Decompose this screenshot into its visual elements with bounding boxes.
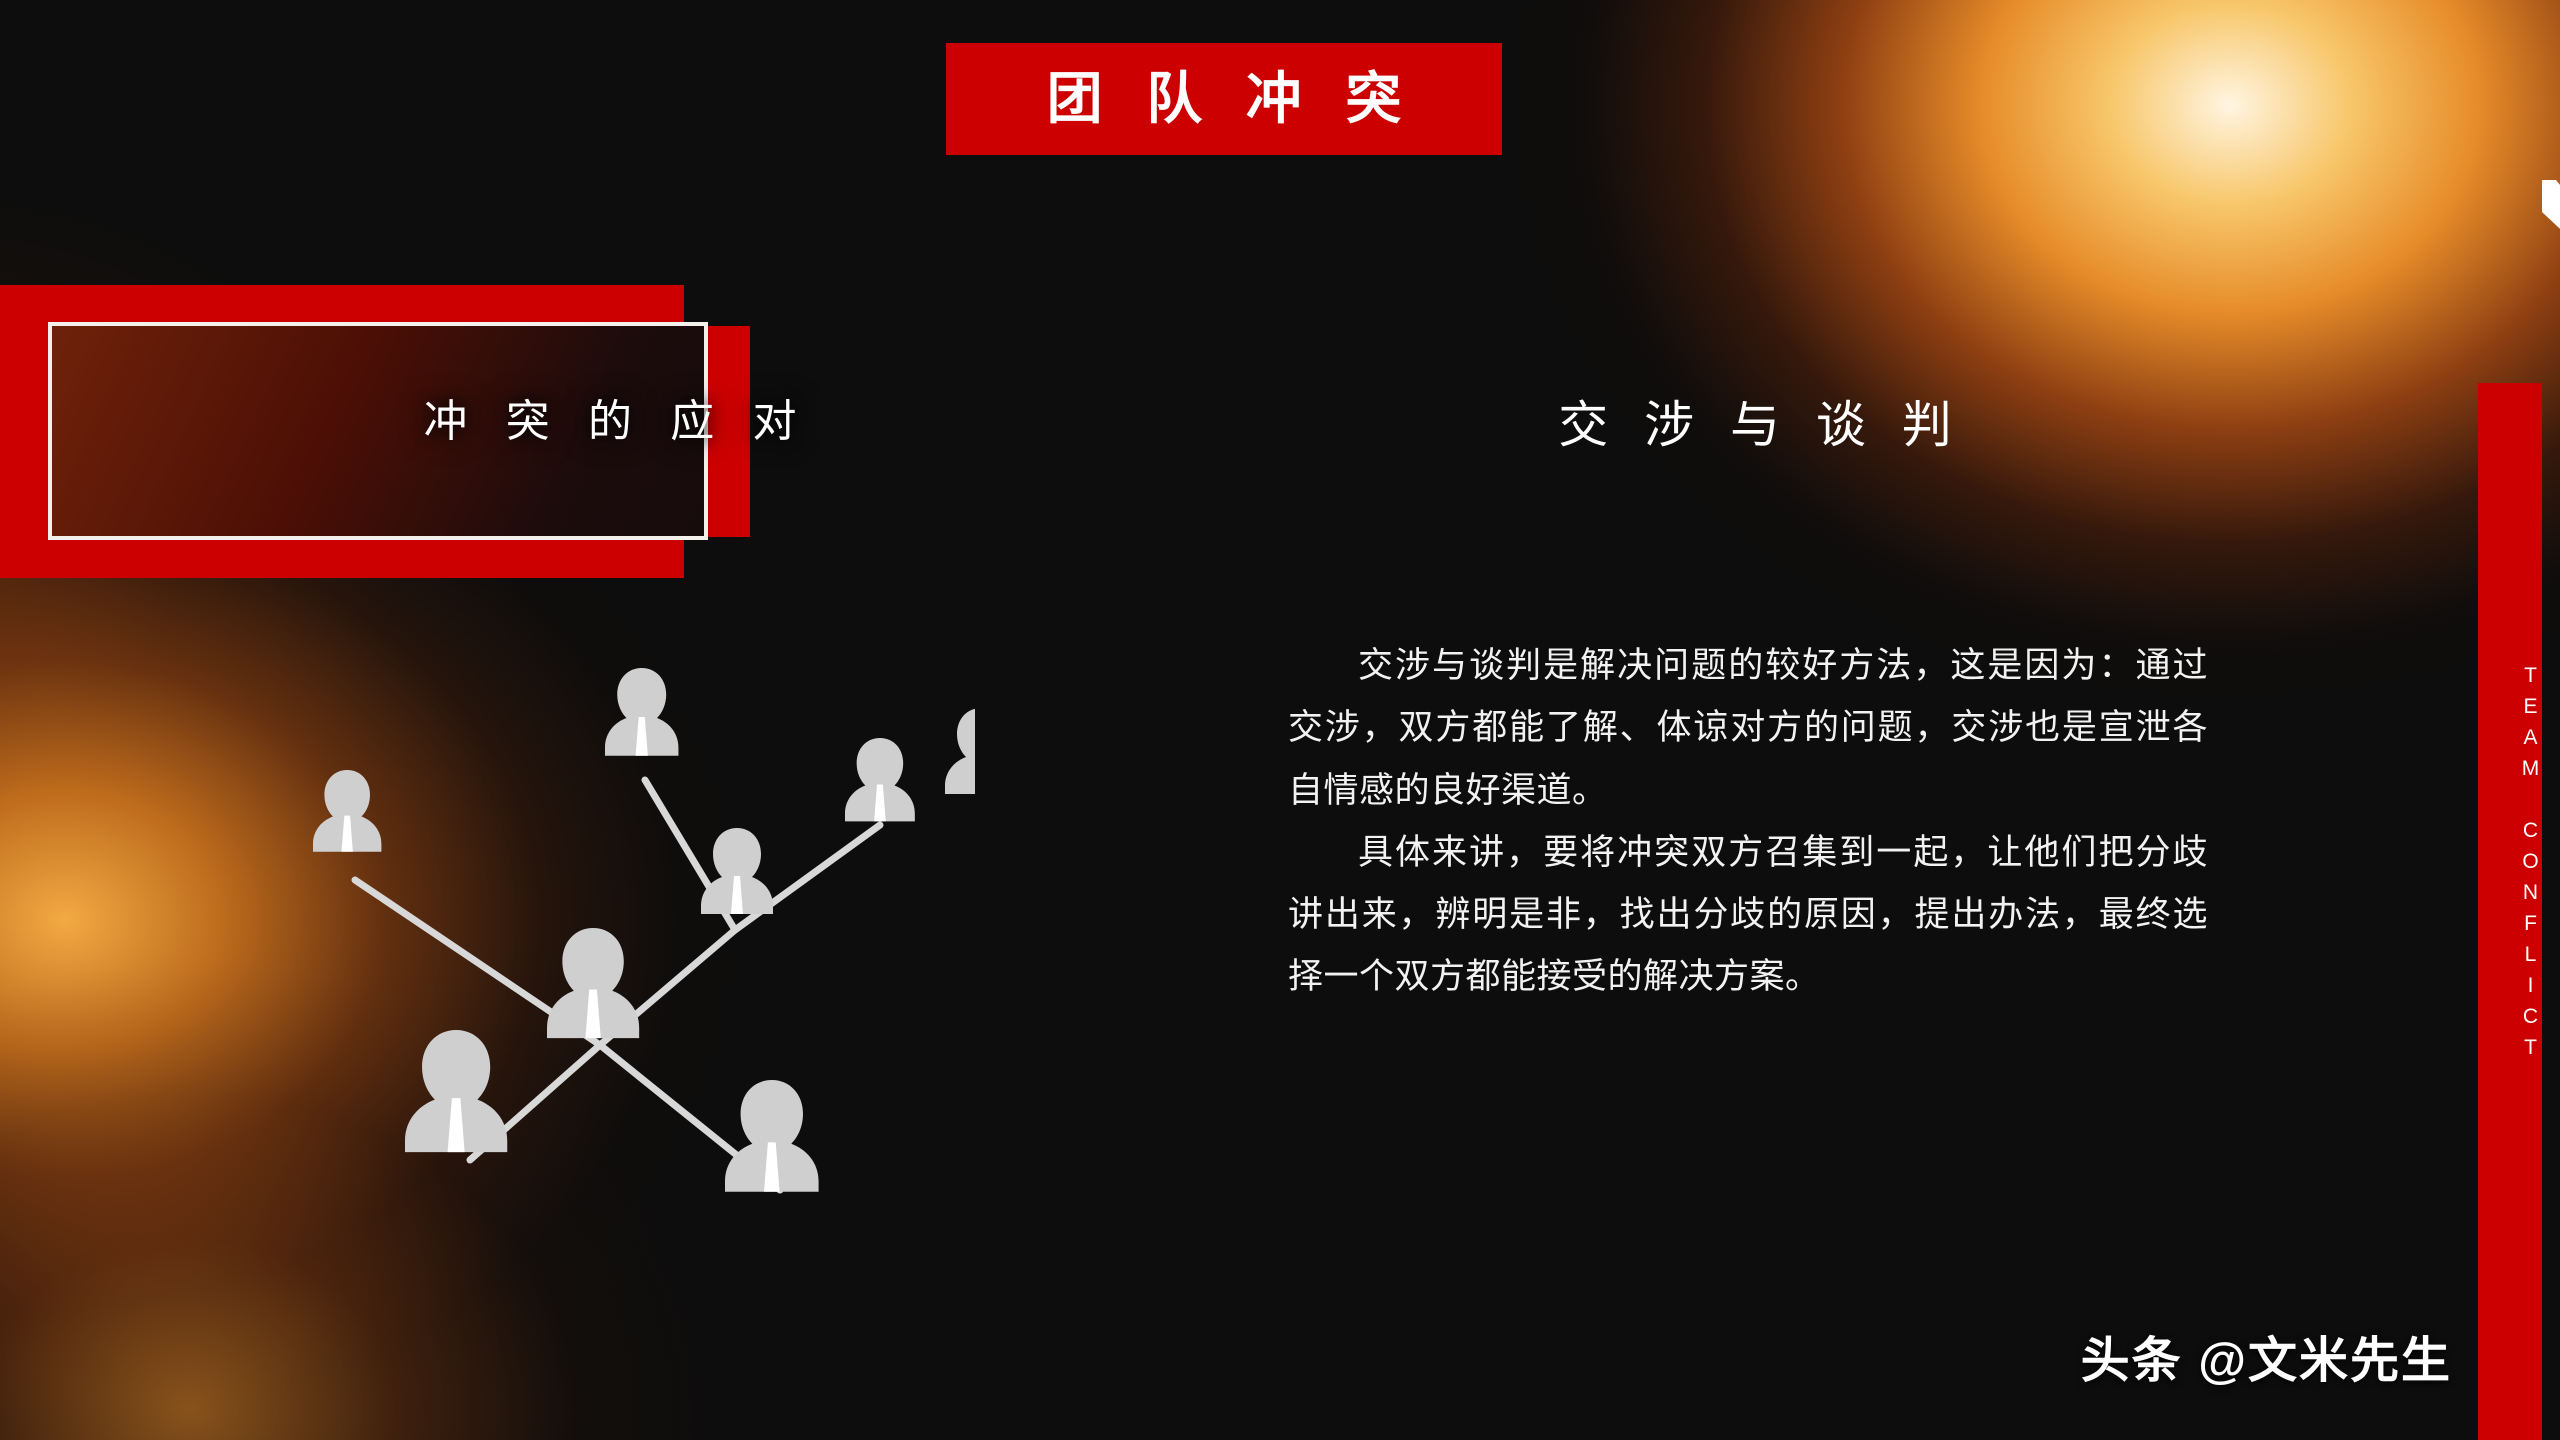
network-node-top-right [845, 738, 915, 821]
watermark: 头条 @文米先生 [2081, 1321, 2452, 1392]
network-node-right-mid [701, 828, 773, 914]
network-node-bottom-left [405, 1030, 507, 1152]
presentation-slide: 团 队 冲 突 冲 突 的 应 对 [0, 0, 2560, 1440]
content-heading: 交 涉 与 谈 判 [1305, 385, 2205, 457]
content-body: 交涉与谈判是解决问题的较好方法，这是因为：通过交涉，双方都能了解、体谅对方的问题… [1288, 635, 2208, 1009]
network-node-top-center [945, 708, 975, 794]
network-node-bottom-right [725, 1080, 819, 1192]
section-frame-notch-bottom [684, 537, 750, 578]
network-node-center [547, 928, 639, 1038]
side-rail-label: TEAM CONFLICT [2478, 640, 2542, 1080]
section-subtitle: 冲 突 的 应 对 [330, 385, 890, 449]
network-node-left [313, 770, 381, 852]
section-frame-notch-top [684, 285, 750, 326]
background-glow-top-right [1480, 0, 2560, 730]
content-paragraph-1: 交涉与谈判是解决问题的较好方法，这是因为：通过交涉，双方都能了解、体谅对方的问题… [1288, 635, 2208, 822]
network-node-top [605, 668, 678, 756]
slide-title-text: 团 队 冲 突 [1033, 71, 1416, 127]
content-paragraph-2: 具体来讲，要将冲突双方召集到一起，让他们把分歧讲出来，辨明是非，找出分歧的原因，… [1288, 822, 2208, 1009]
people-network-diagram [255, 630, 975, 1210]
slide-title-banner: 团 队 冲 突 [946, 43, 1502, 155]
